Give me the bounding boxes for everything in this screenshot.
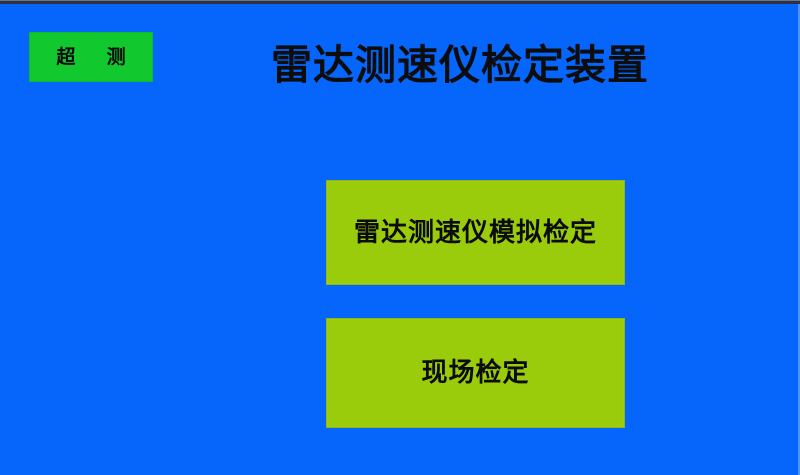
status-badge-overspeed[interactable]: 超 测 (29, 32, 153, 82)
application-window: 超 测 雷达测速仪检定装置 雷达测速仪模拟检定 现场检定 (0, 0, 800, 475)
button-simulated-calibration-label: 雷达测速仪模拟检定 (354, 220, 597, 246)
status-badge-label: 超 测 (50, 48, 131, 67)
button-field-calibration[interactable]: 现场检定 (326, 318, 625, 428)
button-field-calibration-label: 现场检定 (421, 360, 529, 386)
button-simulated-calibration[interactable]: 雷达测速仪模拟检定 (326, 180, 625, 285)
page-title-text: 雷达测速仪检定装置 (271, 45, 649, 86)
page-title: 雷达测速仪检定装置 (180, 36, 740, 94)
window-chrome-strip (0, 0, 800, 4)
